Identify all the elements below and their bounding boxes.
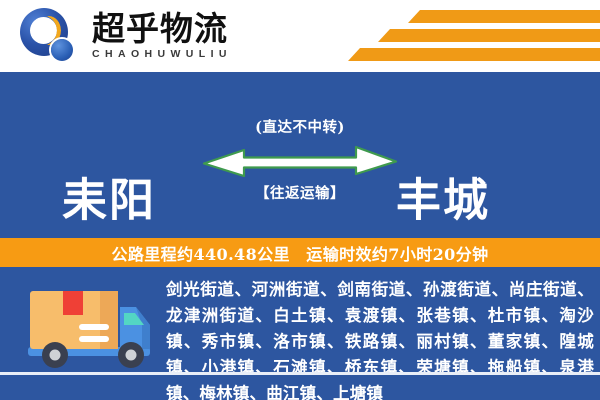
logo-small-circle-shape <box>51 39 73 61</box>
brand-text-block: 超乎物流 CHAOHUWULIU <box>92 12 232 61</box>
route-info-bar: 公路里程约440.48公里 运输时效约7小时20分钟 <box>0 238 600 267</box>
brand-name-cn: 超乎物流 <box>92 12 232 47</box>
delivery-truck-icon <box>22 281 156 377</box>
bidirectional-arrow-icon <box>200 143 400 177</box>
origin-city-label: 耒阳 <box>62 178 156 223</box>
direct-service-note: (直达不中转) <box>196 116 404 137</box>
logistics-route-poster: 超乎物流 CHAOHUWULIU 耒阳 (直达不中转) 【往返运输】 丰城 公路… <box>0 0 600 400</box>
header-bar: 超乎物流 CHAOHUWULIU <box>0 0 600 72</box>
destination-city-label: 丰城 <box>396 178 490 223</box>
roundtrip-note: 【往返运输】 <box>196 182 404 203</box>
stripe-top <box>408 10 600 23</box>
route-middle-block: (直达不中转) 【往返运输】 <box>196 116 404 203</box>
route-panel: 耒阳 (直达不中转) 【往返运输】 丰城 <box>0 72 600 238</box>
stripe-middle <box>378 29 600 42</box>
brand-lockup: 超乎物流 CHAOHUWULIU <box>18 4 232 68</box>
coverage-areas-text: 剑光街道、河洲街道、剑南街道、孙渡街道、尚庄街道、龙津洲街道、白土镇、袁渡镇、张… <box>166 277 594 400</box>
bottom-divider <box>0 372 600 375</box>
coverage-panel: 剑光街道、河洲街道、剑南街道、孙渡街道、尚庄街道、龙津洲街道、白土镇、袁渡镇、张… <box>0 267 600 400</box>
orange-speed-stripes-icon <box>340 8 600 66</box>
stripe-bottom <box>348 48 600 61</box>
chaohu-circle-logo-icon <box>18 6 78 66</box>
brand-name-en: CHAOHUWULIU <box>92 48 232 60</box>
distance-and-duration-text: 公路里程约440.48公里 运输时效约7小时20分钟 <box>111 241 488 265</box>
